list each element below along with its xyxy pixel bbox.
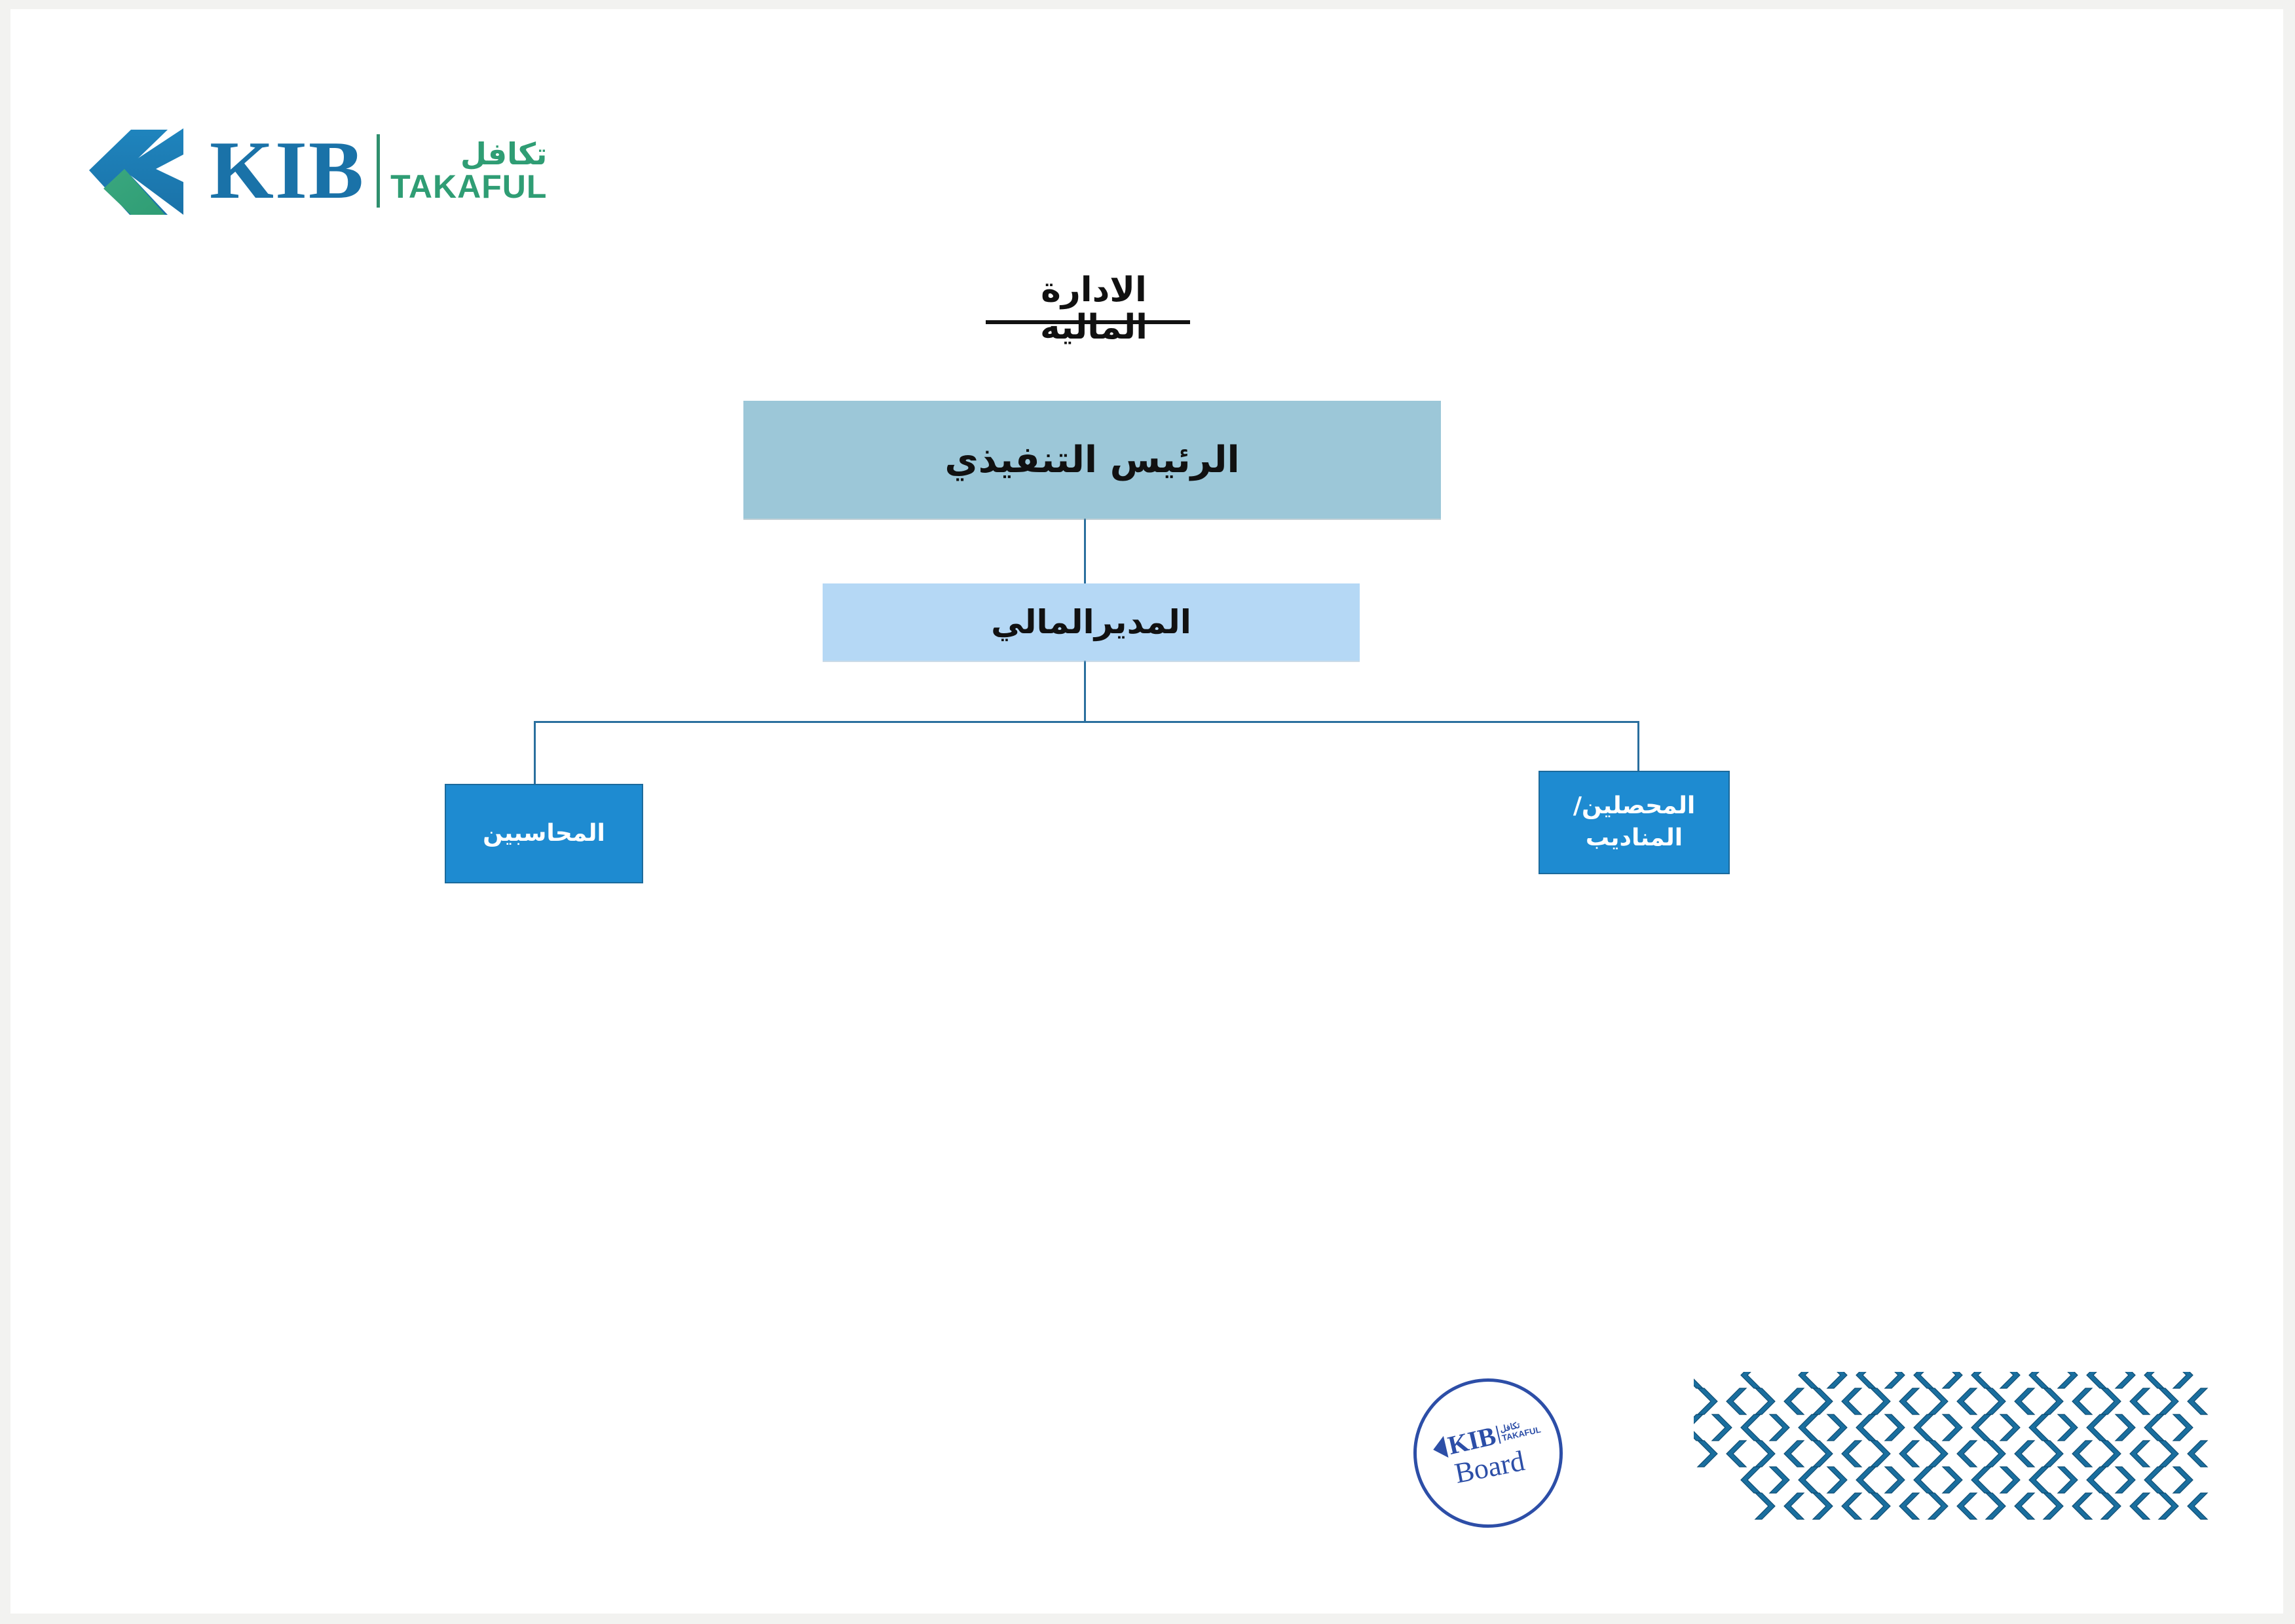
logo-takaful-group: تكافل TAKAFUL bbox=[390, 139, 547, 203]
logo-wordmark-group: KIB تكافل TAKAFUL bbox=[210, 122, 547, 220]
page-title-underline bbox=[986, 320, 1190, 324]
page-title: الادارة المالية bbox=[982, 272, 1205, 346]
logo-latin-text: TAKAFUL bbox=[390, 170, 547, 203]
org-node-collectors-label: المحصلين/ المناديب bbox=[1573, 790, 1695, 854]
document-page: KIB تكافل TAKAFUL الادارة المالية الرئيس… bbox=[0, 0, 2295, 1624]
org-node-collectors-label-line1: المحصلين/ bbox=[1573, 792, 1695, 819]
org-node-financial-manager-label: المديرالمالي bbox=[991, 603, 1191, 641]
stamp-chevron-left-icon bbox=[1430, 1436, 1448, 1461]
stamp-content: KIB تكافل TAKAFUL Board bbox=[1409, 1374, 1568, 1533]
company-logo: KIB تكافل TAKAFUL bbox=[84, 122, 555, 220]
logo-divider bbox=[377, 134, 380, 208]
connector-drop-collectors bbox=[1637, 721, 1639, 771]
org-node-accountants-label: المحاسبين bbox=[483, 818, 605, 850]
logo-wordmark: KIB bbox=[210, 130, 365, 212]
chevron-pattern-decoration bbox=[1694, 1372, 2211, 1549]
scan-edge-right bbox=[2283, 0, 2295, 1624]
logo-arabic-text: تكافل bbox=[390, 139, 547, 169]
connector-horizontal-bus bbox=[534, 721, 1639, 723]
org-node-collectors[interactable]: المحصلين/ المناديب bbox=[1539, 771, 1730, 874]
chevron-left-icon bbox=[84, 126, 202, 217]
org-node-accountants[interactable]: المحاسبين bbox=[445, 784, 643, 883]
scan-edge-top bbox=[0, 0, 2295, 9]
connector-ceo-to-manager bbox=[1084, 518, 1086, 584]
connector-drop-accountants bbox=[534, 721, 536, 784]
scan-edge-left bbox=[0, 0, 10, 1624]
scan-edge-bottom bbox=[0, 1614, 2295, 1624]
org-node-ceo-label: الرئيس التنفيذي bbox=[944, 439, 1239, 481]
stamp-takaful-group: تكافل TAKAFUL bbox=[1496, 1416, 1542, 1443]
org-node-ceo[interactable]: الرئيس التنفيذي bbox=[743, 401, 1441, 519]
org-node-financial-manager[interactable]: المديرالمالي bbox=[823, 583, 1360, 661]
org-node-collectors-label-line2: المناديب bbox=[1586, 824, 1683, 851]
board-approval-stamp: KIB تكافل TAKAFUL Board bbox=[1405, 1370, 1571, 1536]
connector-manager-down bbox=[1084, 660, 1086, 722]
